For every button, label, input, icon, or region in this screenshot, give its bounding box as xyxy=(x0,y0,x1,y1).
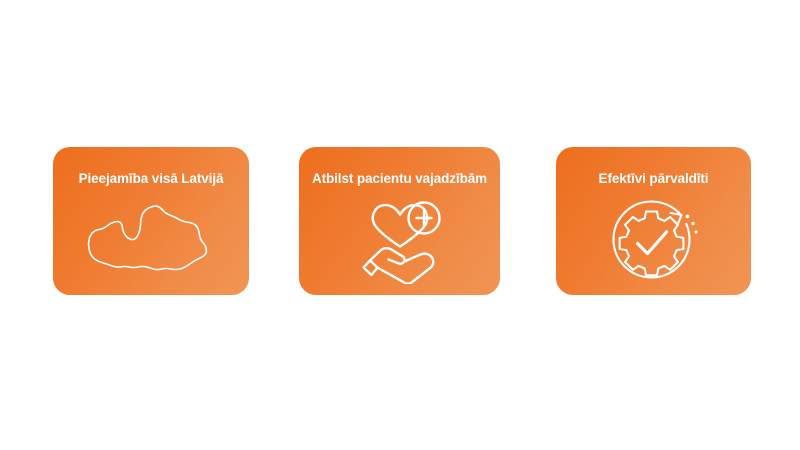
feature-card-availability[interactable]: Pieejamība visā Latvijā xyxy=(53,147,249,295)
feature-card-title: Pieejamība visā Latvijā xyxy=(53,172,249,187)
feature-card-title: Efektīvi pārvaldīti xyxy=(556,172,751,187)
feature-card-row: Pieejamība visā Latvijā Atbilst pacientu… xyxy=(0,147,800,296)
feature-cards-canvas: Pieejamība visā Latvijā Atbilst pacientu… xyxy=(0,0,800,450)
feature-card-title: Atbilst pacientu vajadzībām xyxy=(299,172,500,187)
heart-in-hand-plus-icon xyxy=(299,195,500,287)
feature-card-efficiently-managed[interactable]: Efektīvi pārvaldīti xyxy=(556,147,751,295)
feature-card-patient-needs[interactable]: Atbilst pacientu vajadzībām xyxy=(299,147,500,295)
gear-checkmark-refresh-icon xyxy=(556,193,751,288)
latvia-map-icon xyxy=(53,195,249,287)
